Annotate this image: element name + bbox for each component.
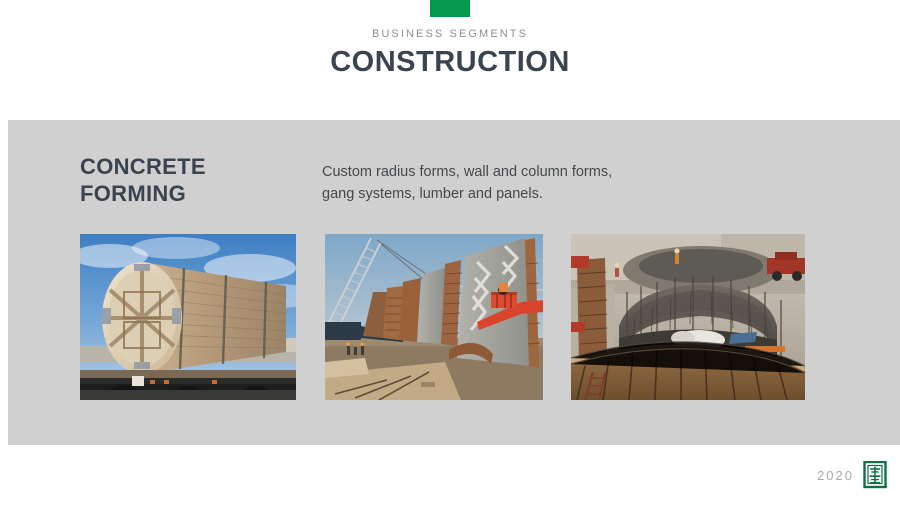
- photo-sloped-wall-forms-with-crane: [325, 234, 543, 400]
- photo-gallery: [8, 234, 900, 400]
- photo-circular-forming-with-rebar: [571, 234, 805, 400]
- segment-title: CONCRETE FORMING: [80, 153, 310, 207]
- green-accent-tab: [430, 0, 470, 17]
- slide-root: BUSINESS SEGMENTS CONSTRUCTION CONCRETE …: [0, 0, 900, 506]
- company-seal-logo: [863, 461, 889, 489]
- segment-description: Custom radius forms, wall and column for…: [322, 161, 682, 205]
- segment-description-line-1: Custom radius forms, wall and column for…: [322, 161, 682, 183]
- content-panel: CONCRETE FORMING Custom radius forms, wa…: [8, 120, 900, 445]
- slide-header: BUSINESS SEGMENTS CONSTRUCTION: [0, 0, 900, 120]
- photo-3-artwork: [571, 234, 805, 400]
- segment-description-line-2: gang systems, lumber and panels.: [322, 183, 682, 205]
- page-title: CONSTRUCTION: [0, 46, 900, 79]
- slide-footer: 2020: [0, 445, 900, 506]
- footer-year: 2020: [817, 468, 854, 483]
- photo-2-artwork: [325, 234, 543, 400]
- company-seal-logo-icon: [863, 461, 889, 489]
- photo-1-artwork: [80, 234, 296, 400]
- segment-title-line-1: CONCRETE: [80, 153, 310, 180]
- header-eyebrow: BUSINESS SEGMENTS: [0, 28, 900, 40]
- segment-title-line-2: FORMING: [80, 180, 310, 207]
- photo-cylindrical-radius-form-on-flatbed: [80, 234, 296, 400]
